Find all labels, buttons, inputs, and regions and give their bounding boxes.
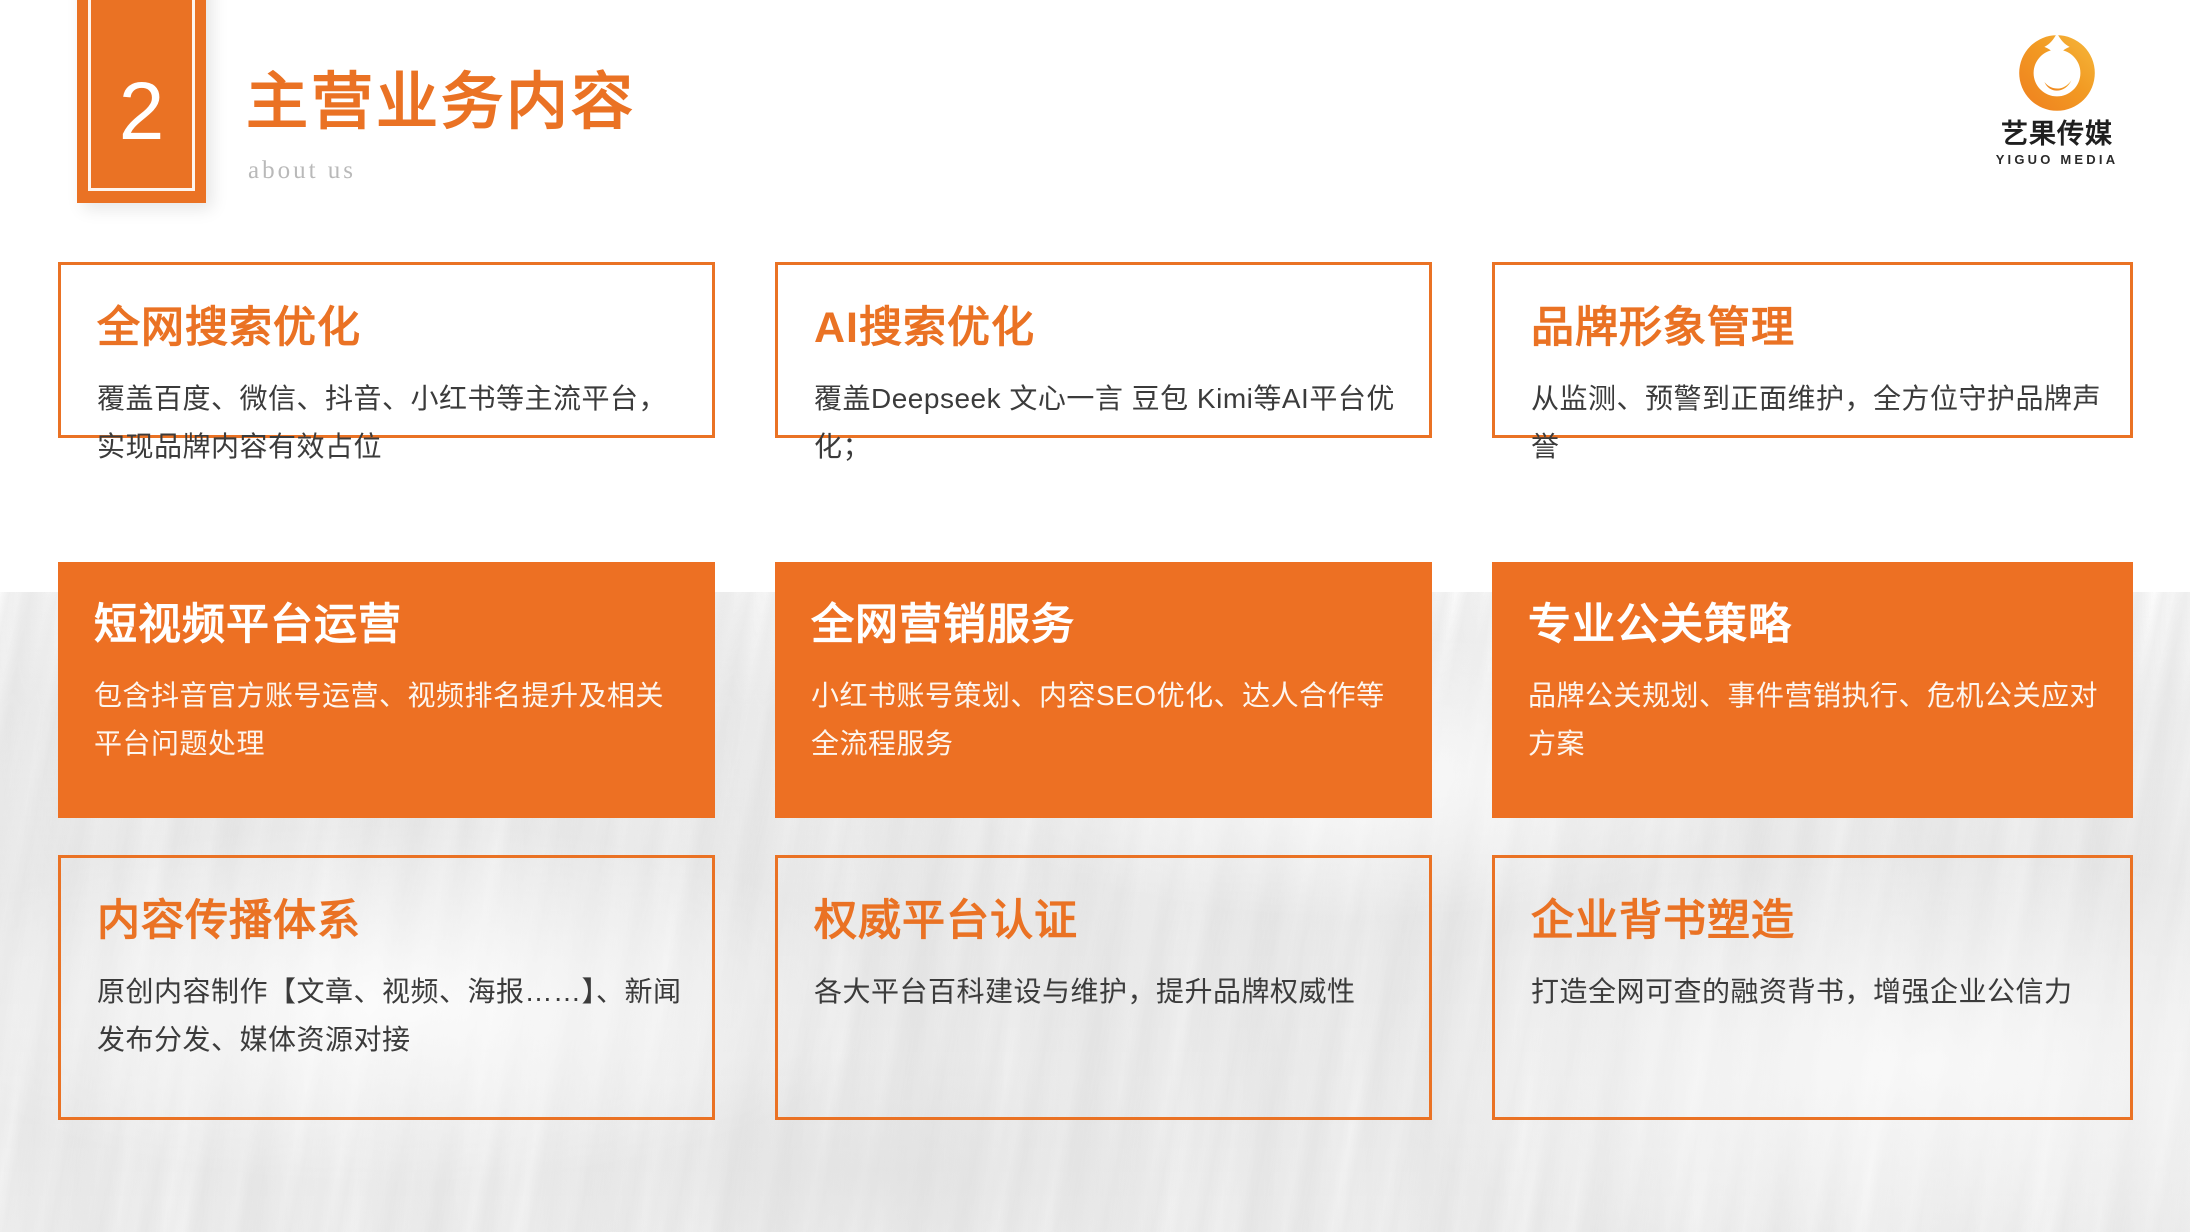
service-card[interactable]: 品牌形象管理 从监测、预警到正面维护，全方位守护品牌声誉 xyxy=(1492,262,2133,438)
service-card-body: 品牌公关规划、事件营销执行、危机公关应对方案 xyxy=(1528,672,2107,768)
service-card[interactable]: 企业背书塑造 打造全网可查的融资背书，增强企业公信力 xyxy=(1492,855,2133,1120)
service-card[interactable]: 内容传播体系 原创内容制作【文章、视频、海报……】、新闻发布分发、媒体资源对接 xyxy=(58,855,715,1120)
slide-header: 2 主营业务内容 about us xyxy=(0,0,2190,250)
slide-canvas: 2 主营业务内容 about us xyxy=(0,0,2190,1232)
service-card-body: 覆盖百度、微信、抖音、小红书等主流平台，实现品牌内容有效占位 xyxy=(97,375,686,471)
service-card-body: 打造全网可查的融资背书，增强企业公信力 xyxy=(1531,968,2104,1016)
service-card-title: 品牌形象管理 xyxy=(1531,307,1795,350)
service-card-body: 从监测、预警到正面维护，全方位守护品牌声誉 xyxy=(1531,375,2104,471)
service-card[interactable]: 全网营销服务 小红书账号策划、内容SEO优化、达人合作等全流程服务 xyxy=(775,562,1432,818)
service-card-body: 原创内容制作【文章、视频、海报……】、新闻发布分发、媒体资源对接 xyxy=(97,968,686,1064)
yiguo-circle-mark-icon xyxy=(2012,28,2102,118)
brand-logo: 艺果传媒 YIGUO MEDIA xyxy=(1982,28,2132,170)
service-card-title: 短视频平台运营 xyxy=(94,604,402,647)
service-card-title: AI搜索优化 xyxy=(814,307,1035,350)
service-card-body: 小红书账号策划、内容SEO优化、达人合作等全流程服务 xyxy=(811,672,1406,768)
service-card-body: 包含抖音官方账号运营、视频排名提升及相关平台问题处理 xyxy=(94,672,689,768)
service-card-title: 专业公关策略 xyxy=(1528,604,1792,647)
service-card[interactable]: 全网搜索优化 覆盖百度、微信、抖音、小红书等主流平台，实现品牌内容有效占位 xyxy=(58,262,715,438)
service-card-title: 全网营销服务 xyxy=(811,604,1075,647)
page-subtitle: about us xyxy=(248,158,356,183)
section-number-text: 2 xyxy=(119,15,165,153)
page-title: 主营业务内容 xyxy=(246,72,636,134)
service-card-body: 各大平台百科建设与维护，提升品牌权威性 xyxy=(814,968,1403,1016)
service-card[interactable]: 专业公关策略 品牌公关规划、事件营销执行、危机公关应对方案 xyxy=(1492,562,2133,818)
brand-logo-english: YIGUO MEDIA xyxy=(1982,153,2132,166)
service-card-title: 内容传播体系 xyxy=(97,900,361,943)
service-card-title: 企业背书塑造 xyxy=(1531,900,1795,943)
service-card-title: 全网搜索优化 xyxy=(97,307,361,350)
service-card[interactable]: AI搜索优化 覆盖Deepseek 文心一言 豆包 Kimi等AI平台优化； xyxy=(775,262,1432,438)
service-card-body: 覆盖Deepseek 文心一言 豆包 Kimi等AI平台优化； xyxy=(814,375,1403,471)
brand-logo-name: 艺果传媒 xyxy=(1982,121,2132,148)
section-number-badge: 2 xyxy=(77,0,206,203)
service-card-title: 权威平台认证 xyxy=(814,900,1078,943)
service-card[interactable]: 权威平台认证 各大平台百科建设与维护，提升品牌权威性 xyxy=(775,855,1432,1120)
section-number-badge-inner-frame: 2 xyxy=(88,0,195,191)
service-card[interactable]: 短视频平台运营 包含抖音官方账号运营、视频排名提升及相关平台问题处理 xyxy=(58,562,715,818)
